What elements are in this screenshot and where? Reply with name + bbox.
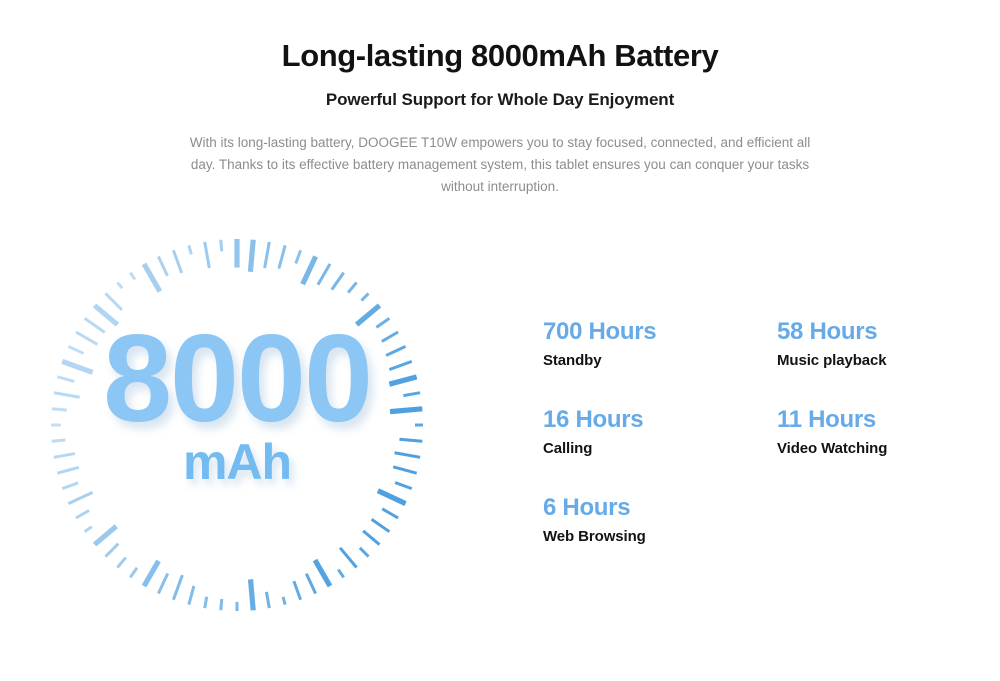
stat-value: 16 Hours (543, 406, 777, 435)
stat-value: 700 Hours (543, 318, 777, 347)
stat-item-web-browsing: 6 Hours Web Browsing (543, 494, 777, 582)
page-title: Long-lasting 8000mAh Battery (0, 0, 1000, 74)
dial-tick-ring-icon (37, 225, 437, 625)
stat-value: 6 Hours (543, 494, 777, 523)
stat-value: 11 Hours (777, 406, 967, 435)
page-description: With its long-lasting battery, DOOGEE T1… (184, 110, 816, 198)
battery-capacity-dial: 8000 mAh (37, 225, 437, 625)
stat-label: Web Browsing (543, 523, 777, 547)
battery-usage-stats: 700 Hours Standby 58 Hours Music playbac… (543, 318, 963, 582)
stat-label: Music playback (777, 347, 967, 371)
stat-item-calling: 16 Hours Calling (543, 406, 777, 494)
stat-label: Video Watching (777, 435, 967, 459)
stats-grid: 700 Hours Standby 58 Hours Music playbac… (543, 318, 963, 582)
header-block: Long-lasting 8000mAh Battery Powerful Su… (0, 0, 1000, 198)
page-subtitle: Powerful Support for Whole Day Enjoyment (0, 74, 1000, 110)
stat-label: Standby (543, 347, 777, 371)
stat-item-standby: 700 Hours Standby (543, 318, 777, 406)
stat-value: 58 Hours (777, 318, 967, 347)
stat-label: Calling (543, 435, 777, 459)
stat-item-video-watching: 11 Hours Video Watching (777, 406, 967, 494)
stat-item-music-playback: 58 Hours Music playback (777, 318, 967, 406)
